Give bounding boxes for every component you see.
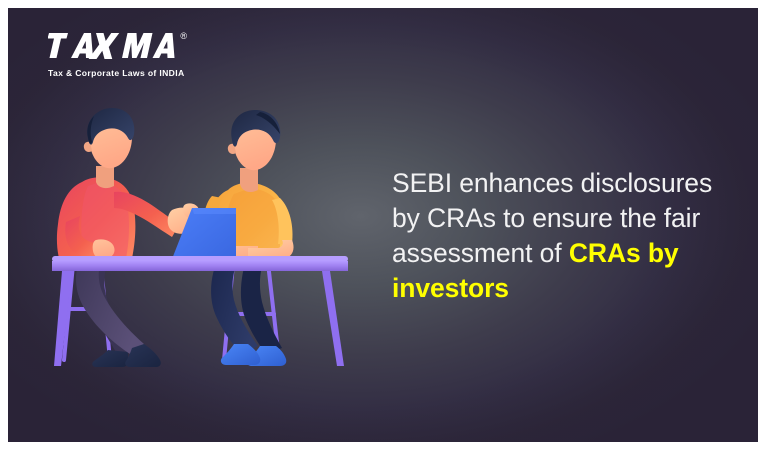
left-person-shoe-back [92,350,128,367]
logo-wordmark-wrap: ® [48,32,178,59]
banner-canvas: ® Tax & Corporate Laws of INDIA [8,8,758,442]
taxmann-wordmark-icon [48,32,178,59]
laptop-screen-highlight [192,208,236,214]
logo-tagline: Tax & Corporate Laws of INDIA [48,68,185,78]
illustration-svg [52,104,362,384]
desk-leg-right [322,271,344,366]
news-banner: ® Tax & Corporate Laws of INDIA [0,0,768,450]
taxmann-logo[interactable]: ® Tax & Corporate Laws of INDIA [48,32,185,78]
desk-surface [52,261,348,271]
illustration-two-people-at-desk [52,104,362,384]
person-left [57,108,199,367]
headline: SEBI enhances disclosures by CRAs to ens… [392,166,722,306]
registered-trademark-icon: ® [180,32,187,41]
left-person-neck [96,166,114,188]
right-person-neck [240,168,258,192]
